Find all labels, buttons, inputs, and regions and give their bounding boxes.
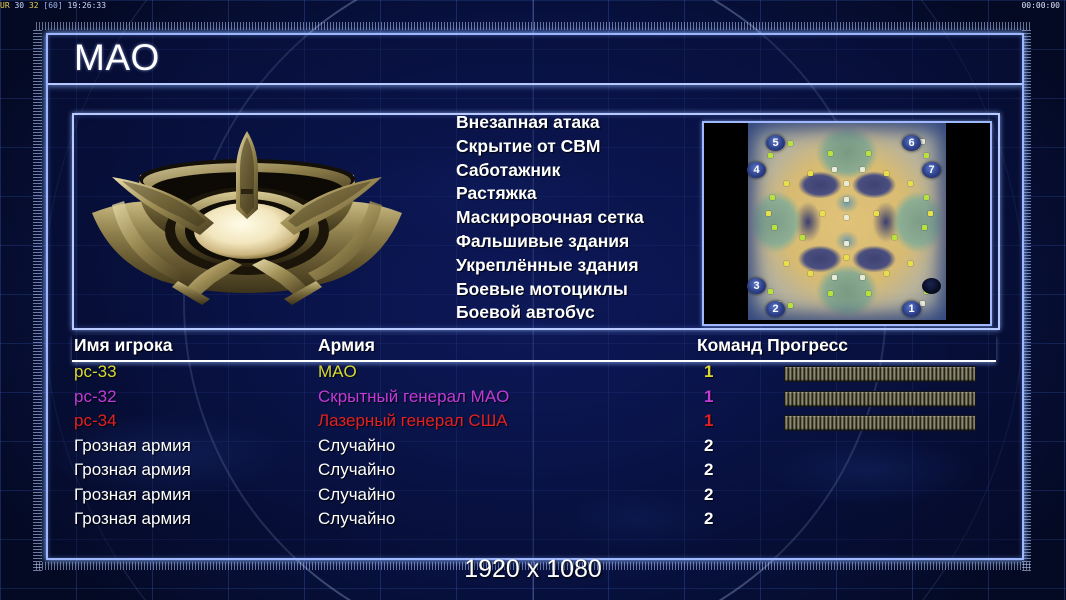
- map-edge-shadow: [748, 123, 946, 320]
- status-bar-right: 00:00:00: [1021, 0, 1060, 11]
- map-terrain: [748, 123, 946, 320]
- cell-player-name: Грозная армия: [74, 485, 191, 505]
- table-row[interactable]: pc-33MAO1: [72, 362, 996, 387]
- cell-army: Скрытный генерал MAO: [318, 387, 509, 407]
- map-resource-marker: [928, 211, 933, 216]
- map-resource-marker: [820, 211, 825, 216]
- progress-bar: [784, 415, 976, 431]
- cell-army: Лазерный генерал США: [318, 411, 508, 431]
- map-resource-marker: [860, 167, 865, 172]
- lobby-window: MAO: [46, 33, 1024, 560]
- status-bracket: [60]: [43, 1, 62, 10]
- map-resource-marker: [860, 275, 865, 280]
- cell-player-name: Грозная армия: [74, 436, 191, 456]
- map-resource-marker: [908, 181, 913, 186]
- map-resource-marker: [920, 301, 925, 306]
- map-resource-marker: [800, 235, 805, 240]
- cell-team: 2: [704, 509, 713, 529]
- map-resource-marker: [884, 171, 889, 176]
- status-clock: 19:26:33: [68, 1, 107, 10]
- column-header-army: Армия: [318, 335, 375, 356]
- progress-bar: [784, 366, 976, 382]
- map-resource-marker: [788, 141, 793, 146]
- map-resource-marker: [788, 303, 793, 308]
- map-resource-marker: [884, 271, 889, 276]
- game-lobby-screen: UR 30 32 [60] 19:26:33 00:00:00 MAO: [0, 0, 1066, 600]
- cell-player-name: pc-34: [74, 411, 117, 431]
- cell-team: 2: [704, 436, 713, 456]
- cell-team: 1: [704, 362, 713, 382]
- map-resource-marker: [828, 291, 833, 296]
- map-resource-marker: [874, 211, 879, 216]
- cell-team: 2: [704, 460, 713, 480]
- map-resource-marker: [866, 151, 871, 156]
- table-row[interactable]: Грозная армияСлучайно2: [72, 460, 996, 485]
- map-resource-marker: [844, 215, 849, 220]
- table-row[interactable]: pc-32Скрытный генерал MAO1: [72, 387, 996, 412]
- map-start-position: 4: [747, 162, 766, 178]
- cell-player-name: Грозная армия: [74, 460, 191, 480]
- map-resource-marker: [866, 291, 871, 296]
- status-bar-left: UR 30 32 [60] 19:26:33: [0, 0, 106, 11]
- map-resource-marker: [766, 211, 771, 216]
- faction-info-panel: Внезапная атака Скрытие от СВМ Саботажни…: [72, 113, 1000, 330]
- faction-emblem: [82, 123, 412, 318]
- map-resource-marker: [924, 153, 929, 158]
- cell-player-name: pc-33: [74, 362, 117, 382]
- map-start-position: 7: [922, 162, 941, 178]
- cell-player-name: Грозная армия: [74, 509, 191, 529]
- map-resource-marker: [808, 171, 813, 176]
- map-resource-marker: [784, 261, 789, 266]
- cell-team: 1: [704, 411, 713, 431]
- column-header-player: Имя игрока: [74, 335, 173, 356]
- table-row[interactable]: pc-34Лазерный генерал США1: [72, 411, 996, 436]
- map-resource-marker: [828, 151, 833, 156]
- map-start-position: 3: [747, 278, 766, 294]
- game-timer: 00:00:00: [1021, 1, 1060, 10]
- map-resource-marker: [832, 167, 837, 172]
- map-resource-marker: [768, 153, 773, 158]
- window-titlebar: MAO: [48, 35, 1022, 85]
- resolution-label: 1920 x 1080: [0, 555, 1066, 584]
- cell-player-name: pc-32: [74, 387, 117, 407]
- map-resource-marker: [844, 197, 849, 202]
- cell-team: 1: [704, 387, 713, 407]
- table-header-row: Имя игрока Армия Команд Прогресс: [72, 335, 996, 362]
- map-resource-marker: [784, 181, 789, 186]
- cell-army: Случайно: [318, 436, 395, 456]
- map-start-position: 2: [766, 301, 785, 317]
- page-title: MAO: [74, 37, 160, 79]
- map-start-position: 5: [766, 135, 785, 151]
- table-body: pc-33MAO1pc-32Скрытный генерал MAO1pc-34…: [72, 362, 996, 534]
- map-resource-marker: [922, 225, 927, 230]
- map-resource-marker: [892, 235, 897, 240]
- status-value-1: 30: [14, 1, 24, 10]
- map-preview[interactable]: 5647321: [702, 121, 992, 326]
- map-resource-marker: [768, 289, 773, 294]
- ruler-top: [36, 22, 1030, 30]
- map-resource-marker: [844, 255, 849, 260]
- map-resource-marker: [808, 271, 813, 276]
- cell-army: Случайно: [318, 485, 395, 505]
- progress-bar: [784, 391, 976, 407]
- status-value-2: 32: [29, 1, 39, 10]
- cell-team: 2: [704, 485, 713, 505]
- map-start-position: 1: [902, 301, 921, 317]
- table-row[interactable]: Грозная армияСлучайно2: [72, 436, 996, 461]
- ruler-left: [33, 30, 42, 572]
- cell-army: Случайно: [318, 509, 395, 529]
- mao-emblem-icon: [82, 123, 412, 318]
- map-resource-marker: [844, 181, 849, 186]
- table-row[interactable]: Грозная армияСлучайно2: [72, 485, 996, 510]
- map-start-position-empty: [922, 278, 941, 294]
- map-resource-marker: [772, 225, 777, 230]
- status-prefix: UR: [0, 1, 10, 10]
- column-header-team: Команд Прогресс: [697, 335, 848, 356]
- map-resource-marker: [908, 261, 913, 266]
- map-resource-marker: [844, 241, 849, 246]
- cell-army: Случайно: [318, 460, 395, 480]
- map-resource-marker: [832, 275, 837, 280]
- cell-army: MAO: [318, 362, 357, 382]
- player-table: Имя игрока Армия Команд Прогресс pc-33MA…: [72, 335, 996, 533]
- map-resource-marker: [770, 195, 775, 200]
- map-start-position: 6: [902, 135, 921, 151]
- map-resource-marker: [924, 195, 929, 200]
- table-row[interactable]: Грозная армияСлучайно2: [72, 509, 996, 534]
